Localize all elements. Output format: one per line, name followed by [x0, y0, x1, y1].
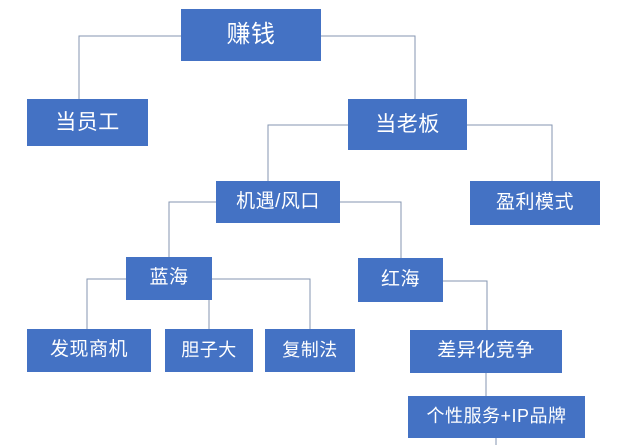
flowchart-node-label: 红海 — [381, 270, 420, 291]
flowchart-node[interactable]: 差异化竞争 — [410, 330, 562, 373]
flowchart-node-label: 胆子大 — [181, 341, 237, 361]
flowchart-node[interactable]: 蓝海 — [126, 257, 212, 300]
flowchart-node[interactable]: 发现商机 — [27, 329, 151, 372]
flowchart-node[interactable]: 盈利模式 — [470, 181, 600, 225]
flowchart-node-label: 蓝海 — [149, 268, 188, 289]
flowchart-node-label: 当老板 — [375, 113, 440, 136]
connector-line — [467, 125, 552, 181]
flowchart-node-label: 差异化竞争 — [437, 341, 535, 362]
connector-line — [79, 36, 181, 99]
flowchart-node[interactable]: 机遇/风口 — [216, 181, 340, 223]
flowchart-node[interactable]: 当员工 — [27, 99, 148, 146]
flowchart-canvas: 赚钱当员工当老板机遇/风口盈利模式蓝海红海发现商机胆子大复制法差异化竞争个性服务… — [0, 0, 640, 445]
connector-line — [268, 125, 348, 181]
flowchart-node-label: 机遇/风口 — [236, 192, 320, 213]
flowchart-node-label: 赚钱 — [227, 22, 276, 48]
connector-line — [340, 202, 401, 258]
connector-line — [212, 279, 310, 329]
connector-line — [169, 202, 216, 257]
flowchart-node[interactable]: 个性服务+IP品牌 — [408, 396, 585, 438]
connector-line — [443, 281, 487, 330]
flowchart-node[interactable]: 胆子大 — [165, 329, 253, 372]
flowchart-node[interactable]: 复制法 — [265, 329, 355, 372]
flowchart-node[interactable]: 红海 — [358, 258, 443, 302]
flowchart-node-label: 个性服务+IP品牌 — [426, 407, 566, 427]
flowchart-node[interactable]: 当老板 — [348, 99, 467, 150]
connector-line — [321, 36, 415, 99]
flowchart-node-label: 盈利模式 — [496, 193, 574, 214]
connector-line — [87, 279, 126, 329]
flowchart-node-label: 发现商机 — [50, 340, 128, 361]
flowchart-node[interactable]: 赚钱 — [181, 9, 321, 61]
flowchart-node-label: 复制法 — [282, 341, 338, 361]
flowchart-node-label: 当员工 — [55, 111, 120, 134]
